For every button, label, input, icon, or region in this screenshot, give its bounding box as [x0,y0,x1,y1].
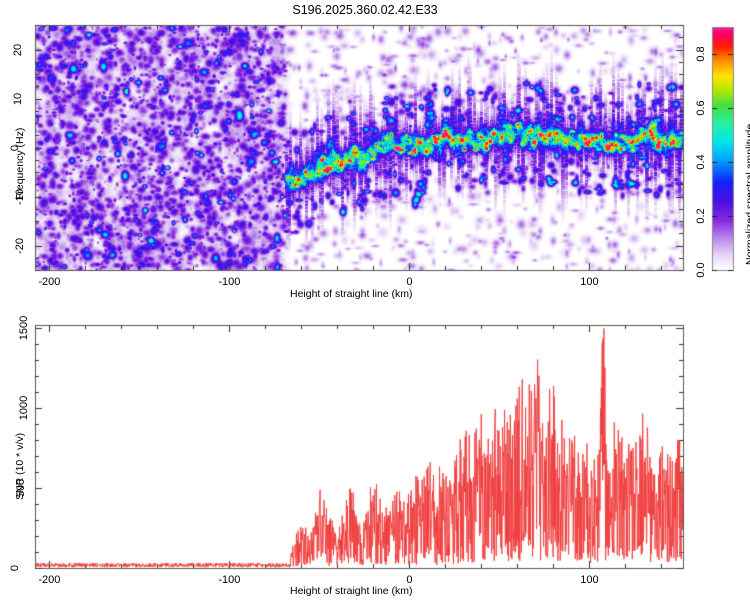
spectrogram-x-axis-label: Height of straight line (km) [290,288,413,300]
snr-xtick-label: -100 [218,574,240,586]
figure-container: S196.2025.360.02.42.E33 Frequency (Hz) H… [0,0,750,600]
snr-ytick-label: 1500 [18,316,30,340]
spectrogram-ytick-label: -20 [14,238,26,254]
plot-canvas [0,0,750,600]
snr-xtick-label: 100 [580,574,598,586]
snr-ytick-label: 1000 [18,396,30,420]
colorbar-label: Normalized spectral amplitude [744,124,750,265]
spectrogram-xtick-label: -200 [38,276,60,288]
colorbar-tick-label: 0.8 [695,46,707,61]
spectrogram-xtick-label: 0 [406,276,412,288]
spectrogram-ytick-label: 0 [9,144,21,150]
spectrogram-xtick-label: 100 [580,276,598,288]
page-title: S196.2025.360.02.42.E33 [0,3,730,17]
spectrogram-ytick-label: 10 [12,92,24,104]
snr-ytick-label: 0 [9,565,21,571]
snr-xtick-label: -200 [38,574,60,586]
spectrogram-xtick-label: -100 [218,276,240,288]
colorbar-tick-label: 0.4 [695,154,707,169]
snr-xtick-label: 0 [406,574,412,586]
spectrogram-ytick-label: -10 [14,189,26,205]
colorbar-tick-label: 0.6 [695,100,707,115]
snr-x-axis-label: Height of straight line (km) [290,585,413,597]
colorbar-tick-label: 0.0 [695,262,707,277]
colorbar-tick-label: 0.2 [695,208,707,223]
snr-ytick-label: 500 [15,479,27,497]
spectrogram-ytick-label: 20 [12,43,24,55]
